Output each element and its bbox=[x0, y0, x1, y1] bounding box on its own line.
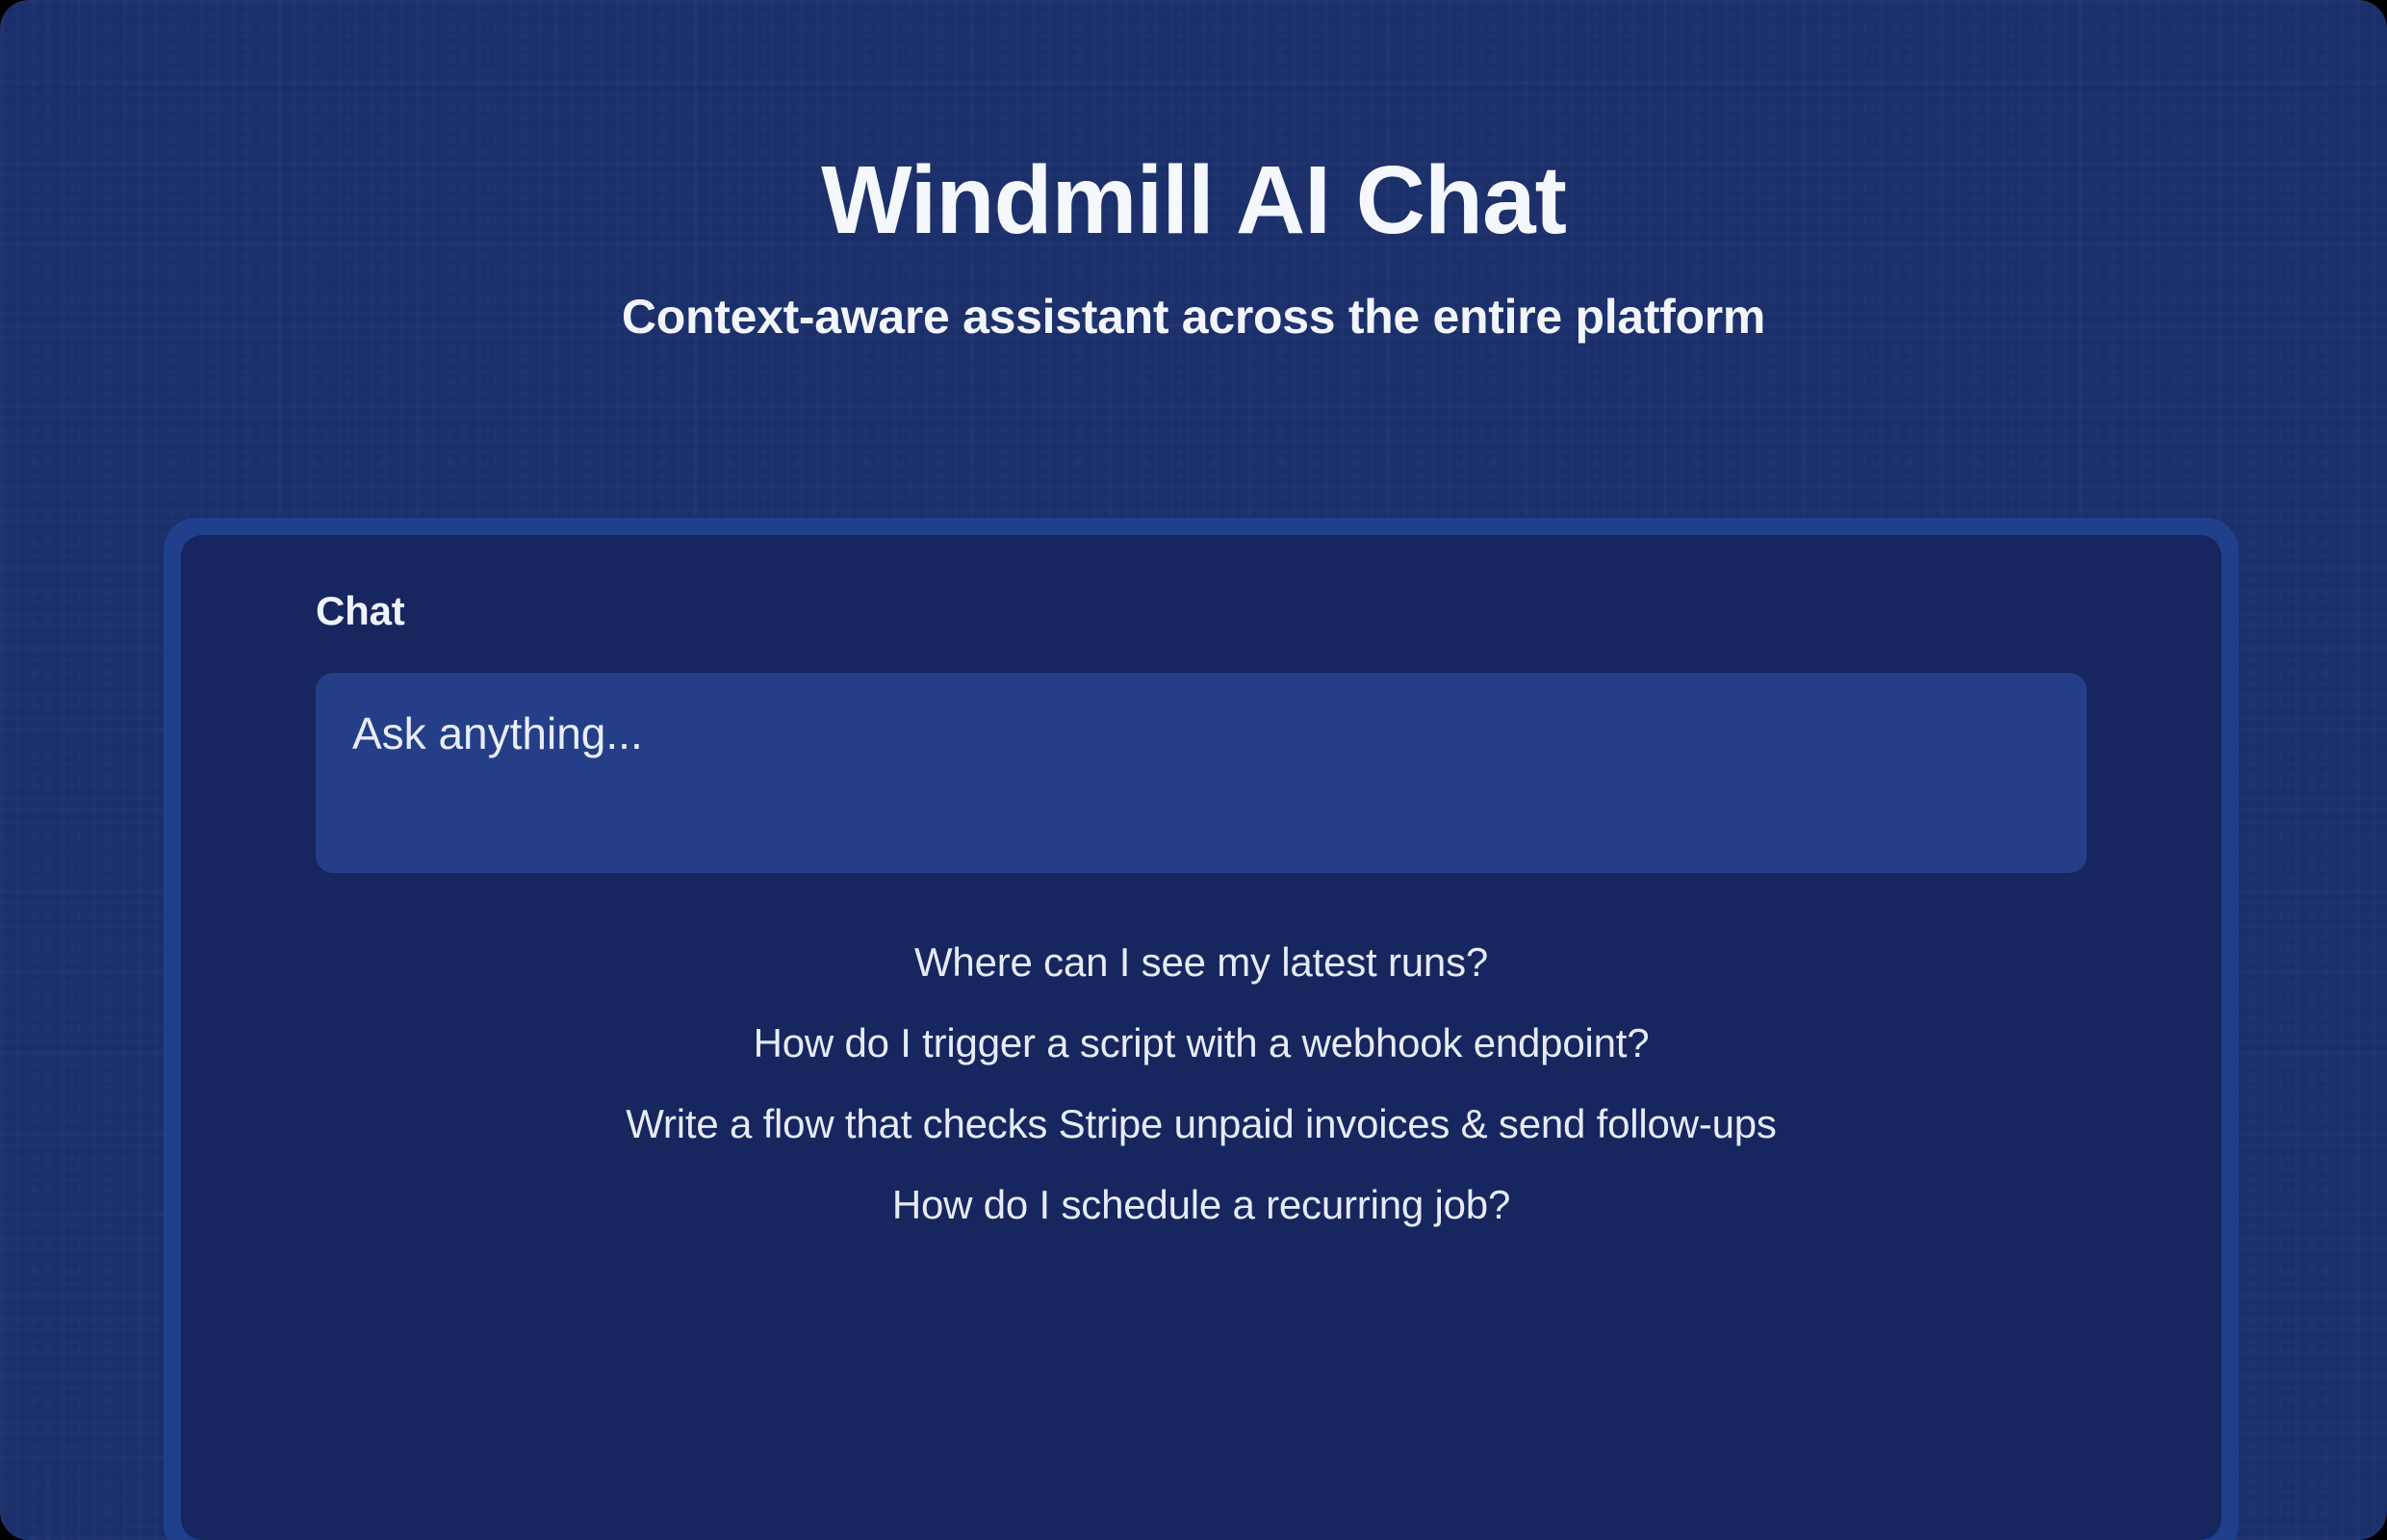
page-root: Windmill AI Chat Context-aware assistant… bbox=[0, 0, 2387, 1540]
suggestion-item[interactable]: Where can I see my latest runs? bbox=[316, 942, 2087, 983]
suggestion-item[interactable]: How do I trigger a script with a webhook… bbox=[316, 1023, 2087, 1064]
chat-input[interactable] bbox=[316, 673, 2087, 873]
suggestion-item[interactable]: Write a flow that checks Stripe unpaid i… bbox=[316, 1104, 2087, 1144]
chat-card: Chat Where can I see my latest runs? How… bbox=[164, 518, 2239, 1540]
page-content: Windmill AI Chat Context-aware assistant… bbox=[0, 0, 2387, 341]
chat-panel: Chat Where can I see my latest runs? How… bbox=[181, 535, 2221, 1540]
suggestion-list: Where can I see my latest runs? How do I… bbox=[316, 942, 2087, 1225]
chat-heading: Chat bbox=[316, 591, 2087, 631]
page-title: Windmill AI Chat bbox=[0, 0, 2387, 248]
suggestion-item[interactable]: How do I schedule a recurring job? bbox=[316, 1185, 2087, 1225]
page-subtitle: Context-aware assistant across the entir… bbox=[0, 248, 2387, 341]
